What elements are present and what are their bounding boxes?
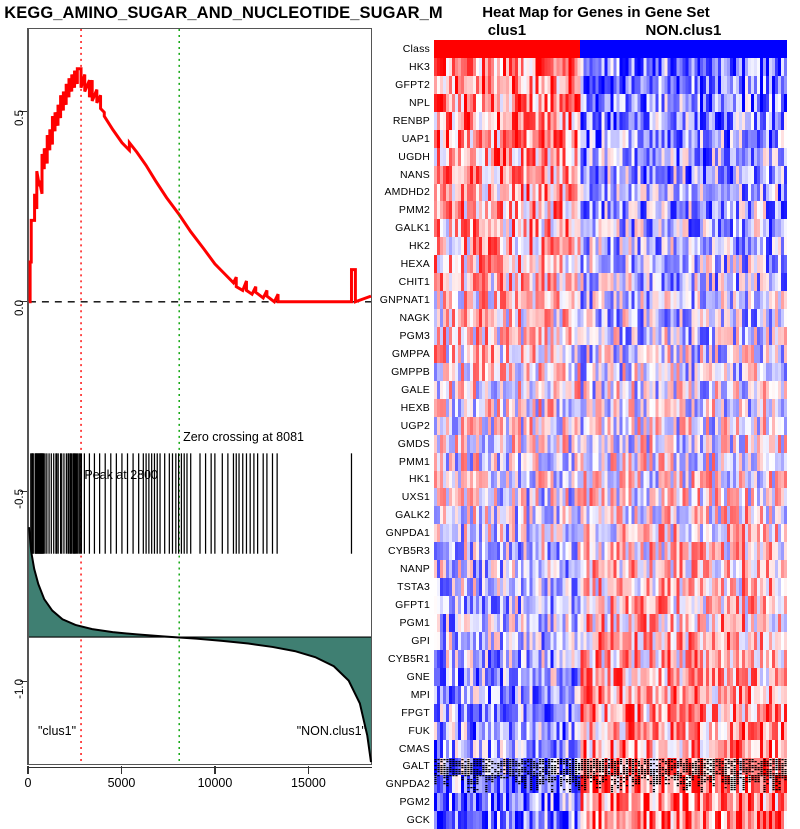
- heatmap-row-cells: [434, 596, 787, 614]
- heatmap-row-cells: [434, 76, 787, 94]
- heatmap-gene-row: GMDS: [434, 435, 787, 453]
- y-axis-line: [27, 28, 29, 765]
- heatmap-gene-row: MPI: [434, 686, 787, 704]
- y-tick-label: 0.5: [14, 110, 26, 130]
- heatmap-row-label: HK3: [409, 61, 430, 73]
- x-tick-label: 5000: [108, 776, 136, 790]
- heatmap-gene-row: GPI: [434, 632, 787, 650]
- heatmap-row-label: GMPPA: [392, 348, 430, 360]
- heatmap-row-cells: [434, 506, 787, 524]
- heatmap-gene-row: GNE: [434, 668, 787, 686]
- heatmap-row-cells: [434, 345, 787, 363]
- heatmap-row-label: GALT: [403, 760, 430, 772]
- heatmap-row-label: GFPT2: [395, 79, 430, 91]
- gsea-plot-box: [28, 28, 372, 765]
- heatmap-gene-row: PGM3: [434, 327, 787, 345]
- heatmap-row-cells: [434, 219, 787, 237]
- heatmap-gene-row: CHIT1: [434, 273, 787, 291]
- heatmap-gene-row: AMDHD2: [434, 184, 787, 202]
- heatmap-row-cells: [434, 686, 787, 704]
- class-name-label: clus1: [488, 22, 526, 39]
- gsea-plot-canvas: [29, 29, 371, 764]
- heatmap-gene-row: GFPT1: [434, 596, 787, 614]
- heatmap-column-labels: [434, 759, 787, 799]
- heatmap-grid: ClassHK3GFPT2NPLRENBPUAP1UGDHNANSAMDHD2P…: [434, 40, 787, 759]
- heatmap-row-cells: [434, 237, 787, 255]
- y-tick-label: -1.0: [14, 679, 26, 699]
- heatmap-row-cells: [434, 363, 787, 381]
- x-axis-line: [28, 767, 372, 769]
- heatmap-row-cells: [434, 273, 787, 291]
- heatmap-gene-row: CYB5R3: [434, 542, 787, 560]
- heatmap-gene-row: CMAS: [434, 740, 787, 758]
- x-tick-mark: [214, 766, 216, 774]
- heatmap-row-cells: [434, 740, 787, 758]
- heatmap-row-label: NANS: [400, 169, 430, 181]
- heatmap-row-label: GALK2: [395, 509, 430, 521]
- heatmap-row-cells: [434, 704, 787, 722]
- heatmap-row-label: GCK: [407, 814, 430, 826]
- heatmap-row-cells: [434, 722, 787, 740]
- heatmap-gene-row: GMPPA: [434, 345, 787, 363]
- heatmap-row-cells: [434, 399, 787, 417]
- heatmap-row-cells: [434, 471, 787, 489]
- heatmap-row-label: PGM3: [399, 330, 430, 342]
- heatmap-row-cells: [434, 560, 787, 578]
- heatmap-row-label: HEXA: [401, 258, 430, 270]
- heatmap-row-cells: [434, 578, 787, 596]
- heatmap-gene-row: GNPDA1: [434, 524, 787, 542]
- heatmap-gene-row: PGM1: [434, 614, 787, 632]
- heatmap-gene-row: GMPPB: [434, 363, 787, 381]
- heatmap-gene-row: GALK2: [434, 506, 787, 524]
- heatmap-row-label: GPI: [411, 635, 430, 647]
- heatmap-row-cells: [434, 309, 787, 327]
- heatmap-class-row: Class: [434, 40, 787, 58]
- heatmap-row-label: Class: [403, 43, 430, 55]
- heatmap-row-label: NPL: [409, 97, 430, 109]
- heatmap-row-cells: [434, 542, 787, 560]
- heatmap-row-cells: [434, 614, 787, 632]
- heatmap-row-label: UGP2: [401, 420, 430, 432]
- x-tick-mark: [308, 766, 310, 774]
- heatmap-gene-row: UXS1: [434, 488, 787, 506]
- heatmap-row-label: RENBP: [393, 115, 430, 127]
- heatmap-row-cells: [434, 94, 787, 112]
- heatmap-row-label: NANP: [400, 563, 430, 575]
- heatmap-gene-row: UGDH: [434, 148, 787, 166]
- enrichment-score-curve: [29, 69, 371, 302]
- heatmap-row-cells: [434, 668, 787, 686]
- heatmap-row-cells: [434, 811, 787, 829]
- heatmap-row-label: HK1: [409, 473, 430, 485]
- heatmap-gene-row: NPL: [434, 94, 787, 112]
- heatmap-gene-row: GFPT2: [434, 76, 787, 94]
- heatmap-row-cells: [434, 130, 787, 148]
- heatmap-row-label: UAP1: [402, 133, 430, 145]
- zero-crossing-annotation: Zero crossing at 8081: [183, 430, 304, 444]
- heatmap-row-label: GNPDA1: [386, 527, 430, 539]
- heatmap-gene-row: UGP2: [434, 417, 787, 435]
- heatmap-row-label: HK2: [409, 240, 430, 252]
- x-tick-label: 0: [25, 776, 32, 790]
- heatmap-row-label: PGM1: [399, 617, 430, 629]
- heatmap-gene-row: GNPNAT1: [434, 291, 787, 309]
- column-label-strip: [434, 759, 787, 799]
- heatmap-gene-row: TSTA3: [434, 578, 787, 596]
- heatmap-gene-row: PMM1: [434, 453, 787, 471]
- heatmap-gene-row: GALK1: [434, 219, 787, 237]
- heatmap-gene-row: NANP: [434, 560, 787, 578]
- heatmap-gene-row: FUK: [434, 722, 787, 740]
- x-tick-mark: [121, 766, 123, 774]
- heatmap-row-label: UXS1: [402, 491, 430, 503]
- heatmap-gene-row: GALE: [434, 381, 787, 399]
- heatmap-row-cells: [434, 112, 787, 130]
- heatmap-row-label: AMDHD2: [384, 186, 430, 198]
- heatmap-row-label: PMM2: [399, 204, 430, 216]
- class-bar-segment: [580, 40, 787, 58]
- heatmap-gene-row: NAGK: [434, 309, 787, 327]
- gsea-enrichment-panel: : KEGG_AMINO_SUGAR_AND_NUCLEOTIDE_SUGAR_…: [0, 0, 392, 800]
- heatmap-gene-row: PMM2: [434, 201, 787, 219]
- heatmap-row-cells: [434, 381, 787, 399]
- phenotype-label-left: "clus1": [38, 724, 76, 738]
- heatmap-gene-row: HK3: [434, 58, 787, 76]
- heatmap-row-cells: [434, 58, 787, 76]
- hit-marks-group: [31, 453, 352, 553]
- heatmap-gene-row: GCK: [434, 811, 787, 829]
- heatmap-row-label: CMAS: [399, 743, 430, 755]
- heatmap-gene-row: RENBP: [434, 112, 787, 130]
- heatmap-row-label: CHIT1: [399, 276, 430, 288]
- heatmap-row-label: GNPNAT1: [380, 294, 430, 306]
- x-tick-label: 10000: [198, 776, 233, 790]
- class-name-label: NON.clus1: [645, 22, 721, 39]
- y-tick-label: 0.0: [14, 300, 26, 320]
- heatmap-row-label: NAGK: [399, 312, 430, 324]
- x-tick-label: 15000: [291, 776, 326, 790]
- heatmap-gene-row: CYB5R1: [434, 650, 787, 668]
- heatmap-row-label: PMM1: [399, 456, 430, 468]
- heatmap-row-label: FPGT: [401, 707, 430, 719]
- heatmap-row-label: GALE: [401, 384, 430, 396]
- heatmap-row-label: UGDH: [398, 151, 430, 163]
- heatmap-panel: Heat Map for Genes in Gene Set clus1NON.…: [392, 0, 800, 800]
- phenotype-label-right: "NON.clus1": [297, 724, 366, 738]
- heatmap-row-cells: [434, 327, 787, 345]
- heatmap-row-cells: [434, 435, 787, 453]
- heatmap-row-label: CYB5R3: [388, 545, 430, 557]
- heatmap-gene-row: HK1: [434, 471, 787, 489]
- heatmap-row-cells: [434, 291, 787, 309]
- heatmap-row-label: GALK1: [395, 222, 430, 234]
- heatmap-gene-row: NANS: [434, 166, 787, 184]
- heatmap-row-label: GMDS: [398, 438, 430, 450]
- heatmap-gene-row: UAP1: [434, 130, 787, 148]
- heatmap-row-label: CYB5R1: [388, 653, 430, 665]
- heatmap-row-label: PGM2: [399, 796, 430, 808]
- heatmap-row-cells: [434, 166, 787, 184]
- heatmap-gene-row: HK2: [434, 237, 787, 255]
- heatmap-row-cells: [434, 201, 787, 219]
- heatmap-row-cells: [434, 453, 787, 471]
- heatmap-row-cells: [434, 417, 787, 435]
- y-tick-label: -0.5: [14, 489, 26, 509]
- class-bar-segment: [434, 40, 580, 58]
- page-title: : KEGG_AMINO_SUGAR_AND_NUCLEOTIDE_SUGAR_…: [0, 4, 434, 23]
- heatmap-gene-row: FPGT: [434, 704, 787, 722]
- heatmap-row-cells: [434, 255, 787, 273]
- heatmap-gene-row: HEXA: [434, 255, 787, 273]
- heatmap-row-cells: [434, 148, 787, 166]
- heatmap-row-label: MPI: [411, 689, 430, 701]
- heatmap-title: Heat Map for Genes in Gene Set: [392, 4, 800, 21]
- heatmap-row-label: GMPPB: [391, 366, 430, 378]
- heatmap-row-cells: [434, 524, 787, 542]
- heatmap-row-cells: [434, 488, 787, 506]
- heatmap-row-label: HEXB: [401, 402, 430, 414]
- x-tick-mark: [27, 766, 29, 774]
- heatmap-row-cells: [434, 650, 787, 668]
- heatmap-row-cells: [434, 632, 787, 650]
- peak-annotation: Peak at 2800: [84, 468, 158, 482]
- heatmap-row-label: TSTA3: [397, 581, 430, 593]
- heatmap-row-cells: [434, 184, 787, 202]
- heatmap-row-label: FUK: [408, 725, 430, 737]
- heatmap-row-label: GNPDA2: [386, 778, 430, 790]
- heatmap-gene-row: HEXB: [434, 399, 787, 417]
- heatmap-row-label: GNE: [407, 671, 430, 683]
- heatmap-row-label: GFPT1: [395, 599, 430, 611]
